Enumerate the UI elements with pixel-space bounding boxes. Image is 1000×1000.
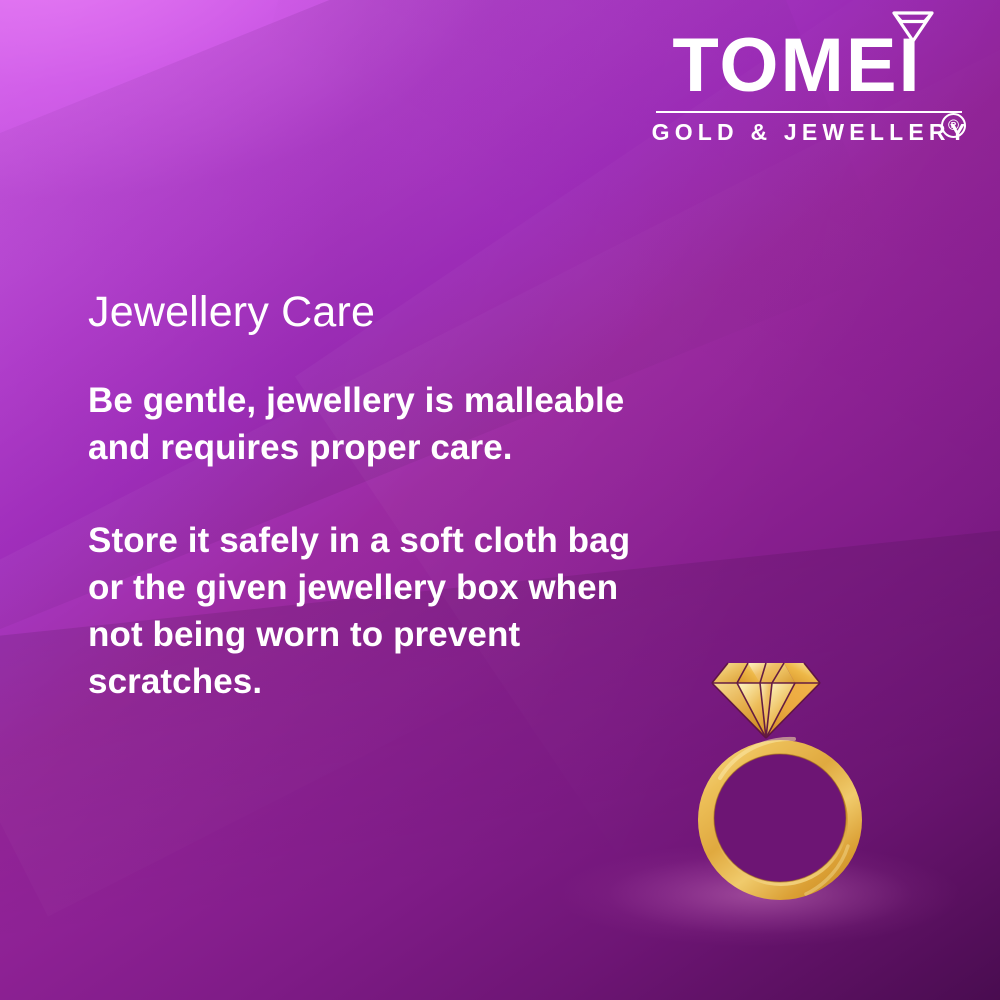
gold-diamond-ring-illustration xyxy=(690,638,880,908)
care-paragraph-1: Be gentle, jewellery is malleable and re… xyxy=(88,378,668,472)
registered-trademark-icon: ® xyxy=(941,113,966,138)
page-title: Jewellery Care xyxy=(88,288,668,336)
logo-divider xyxy=(656,111,962,113)
care-paragraph-2: Store it safely in a soft cloth bag or t… xyxy=(88,518,668,706)
logo-tagline: GOLD & JEWELLERY xyxy=(644,119,974,146)
copy-block: Jewellery Care Be gentle, jewellery is m… xyxy=(88,288,668,706)
logo-wordmark: TOMEI xyxy=(644,8,974,104)
diamond-gem-icon xyxy=(712,663,820,738)
ring-band-icon xyxy=(698,739,862,900)
tomei-logo: TOMEI ® GOLD & JEWELLERY xyxy=(644,8,974,146)
jewellery-care-poster: TOMEI ® GOLD & JEWELLERY Jewellery Care … xyxy=(0,0,1000,1000)
